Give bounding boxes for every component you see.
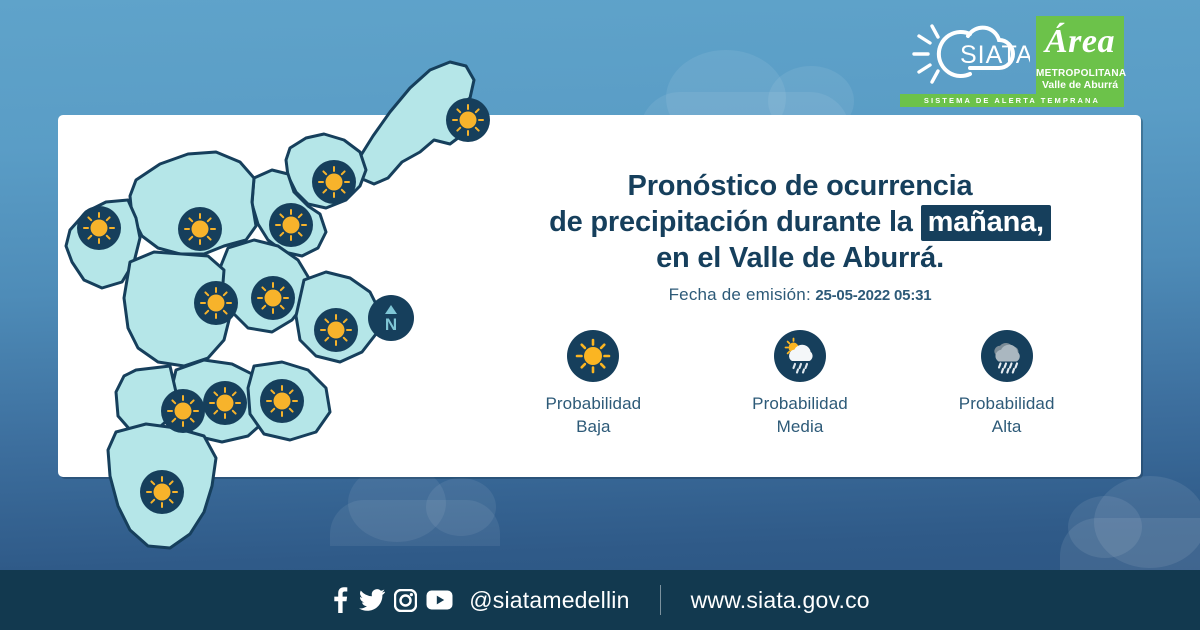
map-marker-caldas[interactable]	[140, 470, 184, 514]
footer-content: @siatamedellin www.siata.gov.co	[330, 585, 870, 615]
headline-line-3: en el Valle de Aburrá.	[480, 240, 1120, 276]
north-arrow-icon: N	[368, 295, 414, 341]
probability-legend: Probabilidad Baja	[490, 330, 1110, 438]
legend-label-alta-line1: Probabilidad	[959, 392, 1055, 415]
sun-icon	[260, 379, 304, 423]
youtube-icon[interactable]	[426, 590, 453, 610]
sun-icon	[251, 276, 295, 320]
map-marker-itagui[interactable]	[203, 381, 247, 425]
legend-label-alta: Probabilidad Alta	[959, 392, 1055, 438]
amva-script-label: Área	[1036, 16, 1124, 68]
map-marker-medellin[interactable]	[194, 281, 238, 325]
website-url[interactable]: www.siata.gov.co	[691, 587, 870, 614]
map-marker-san-jeronimo[interactable]	[178, 207, 222, 251]
legend-label-baja-line2: Baja	[545, 415, 641, 438]
valle-de-aburra-map: N	[58, 40, 478, 580]
amva-line2-label: Valle de Aburrá	[1036, 79, 1124, 91]
sun-icon	[194, 281, 238, 325]
svg-text:SIATA: SIATA	[960, 41, 1030, 69]
map-marker-copacabana[interactable]	[269, 203, 313, 247]
legend-item-baja: Probabilidad Baja	[503, 330, 683, 438]
sun-icon	[140, 470, 184, 514]
legend-label-media-line2: Media	[752, 415, 848, 438]
twitter-icon[interactable]	[359, 589, 385, 611]
legend-item-alta: Probabilidad Alta	[917, 330, 1097, 438]
headline-highlight: mañana,	[921, 205, 1051, 241]
area-metropolitana-logo: Área METROPOLITANA Valle de Aburrá	[1036, 16, 1124, 100]
sun-icon	[314, 308, 358, 352]
sun-icon	[161, 389, 205, 433]
background-cloud-icon	[1060, 518, 1200, 570]
map-marker-barbosa[interactable]	[446, 98, 490, 142]
social-handle[interactable]: @siatamedellin	[469, 587, 629, 614]
map-marker-occidente[interactable]	[77, 206, 121, 250]
map-marker-envigado[interactable]	[314, 308, 358, 352]
svg-text:N: N	[385, 315, 397, 334]
headline-line-2: de precipitación durante la mañana,	[480, 204, 1120, 240]
sun-icon	[567, 330, 619, 382]
footer-divider	[660, 585, 661, 615]
facebook-icon[interactable]	[330, 587, 350, 613]
sun-icon	[269, 203, 313, 247]
instagram-icon[interactable]	[394, 589, 417, 612]
poster-root: SIATA Área METROPOLITANA Valle de Aburrá…	[0, 0, 1200, 630]
social-icons	[330, 587, 453, 613]
sun-icon	[178, 207, 222, 251]
sun-rain-cloud-icon	[774, 330, 826, 382]
headline-line-2-text: de precipitación durante la	[549, 206, 913, 238]
map-marker-bello[interactable]	[251, 276, 295, 320]
tagline-label: SISTEMA DE ALERTA TEMPRANA	[924, 96, 1100, 105]
issue-date: Fecha de emisión: 25-05-2022 05:31	[480, 285, 1120, 305]
legend-item-media: Probabilidad Media	[710, 330, 890, 438]
page-title: Pronóstico de ocurrencia de precipitació…	[480, 168, 1120, 276]
footer-bar: @siatamedellin www.siata.gov.co	[0, 570, 1200, 630]
siata-logo-icon: SIATA	[898, 18, 1030, 90]
sun-icon	[77, 206, 121, 250]
map-marker-sabaneta[interactable]	[161, 389, 205, 433]
headline-line-1: Pronóstico de ocurrencia	[480, 168, 1120, 204]
issue-date-value: 25-05-2022 05:31	[815, 287, 931, 304]
sun-icon	[446, 98, 490, 142]
legend-label-baja: Probabilidad Baja	[545, 392, 641, 438]
amva-line1-label: METROPOLITANA	[1036, 68, 1124, 79]
sun-icon	[312, 160, 356, 204]
legend-label-baja-line1: Probabilidad	[545, 392, 641, 415]
map-marker-la-estrella[interactable]	[260, 379, 304, 423]
legend-label-media: Probabilidad Media	[752, 392, 848, 438]
tagline-bar: SISTEMA DE ALERTA TEMPRANA	[900, 94, 1124, 107]
legend-label-alta-line2: Alta	[959, 415, 1055, 438]
legend-label-media-line1: Probabilidad	[752, 392, 848, 415]
sun-icon	[203, 381, 247, 425]
map-marker-girardota[interactable]	[312, 160, 356, 204]
rain-cloud-icon	[981, 330, 1033, 382]
issue-date-label: Fecha de emisión:	[669, 285, 811, 304]
